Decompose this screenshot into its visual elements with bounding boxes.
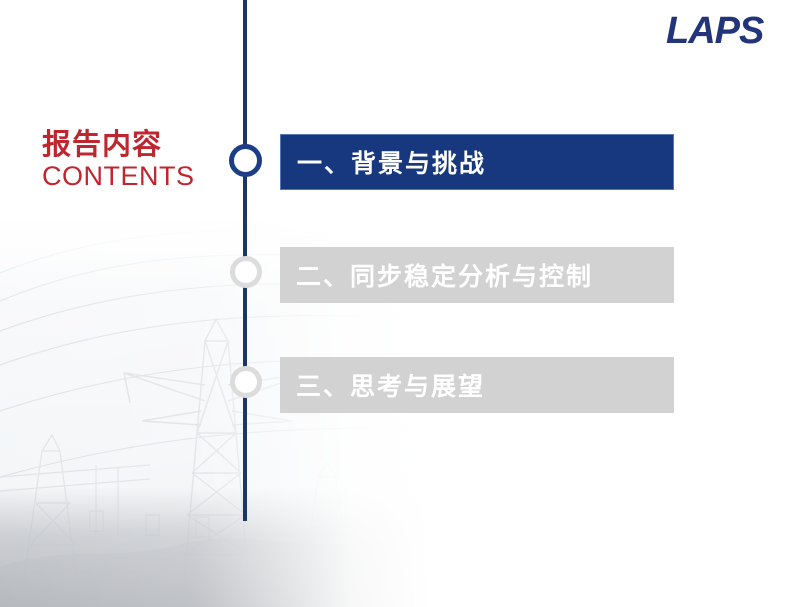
laps-logo: LAPS	[664, 10, 782, 50]
timeline-node-2[interactable]	[230, 256, 262, 288]
contents-heading: 报告内容 CONTENTS	[42, 130, 195, 191]
laps-logo-mark: LAPS	[664, 10, 782, 50]
agenda-item-1-label: 一、背景与挑战	[297, 144, 486, 180]
agenda-item-1[interactable]: 一、背景与挑战	[280, 134, 674, 190]
photo-foreground	[0, 487, 430, 607]
laps-logo-text: LAPS	[666, 10, 764, 50]
agenda-item-2[interactable]: 二、同步稳定分析与控制	[280, 247, 674, 303]
contents-title-cn: 报告内容	[42, 130, 195, 160]
timeline-node-3[interactable]	[230, 366, 262, 398]
contents-title-en: CONTENTS	[42, 162, 195, 190]
treeline	[0, 538, 430, 607]
agenda-item-3-label: 三、思考与展望	[296, 367, 485, 403]
agenda-item-2-label: 二、同步稳定分析与控制	[296, 257, 593, 293]
agenda-item-3[interactable]: 三、思考与展望	[280, 357, 674, 413]
presentation-slide: LAPS 报告内容 CONTENTS 一、背景与挑战 二、同步稳定分析与控制 三…	[0, 0, 810, 607]
timeline-node-active[interactable]	[229, 144, 262, 177]
